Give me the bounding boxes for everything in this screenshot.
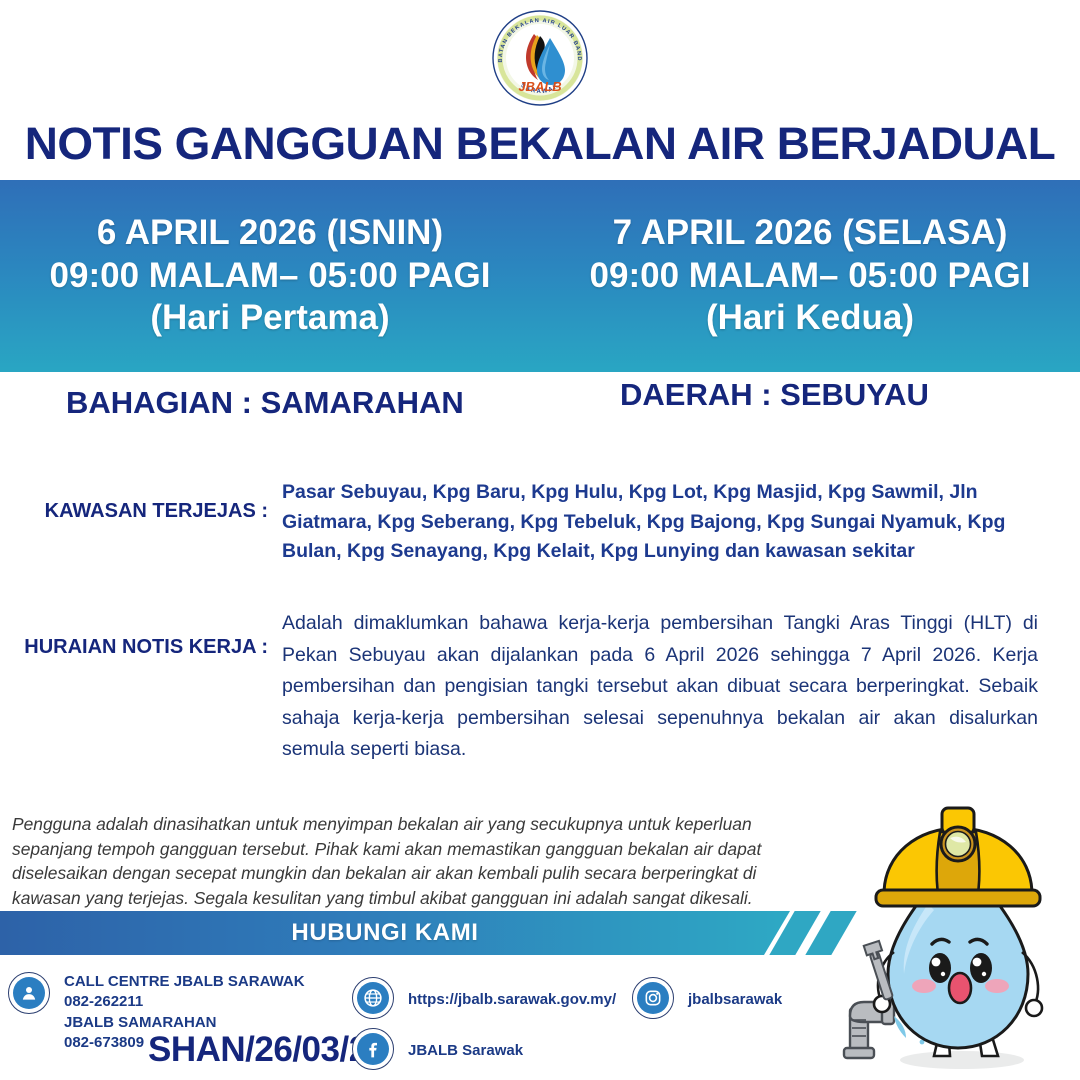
work-description-row: HURAIAN NOTIS KERJA : Adalah dimaklumkan… xyxy=(0,608,1080,766)
svg-text:JBALB: JBALB xyxy=(518,79,561,94)
schedule-band: 6 APRIL 2026 (ISNIN) 09:00 MALAM– 05:00 … xyxy=(0,180,1080,372)
logo-container: JABATAN BEKALAN AIR LUAR BANDAR SARAWAK … xyxy=(0,6,1080,110)
schedule-day-label: (Hari Kedua) xyxy=(706,297,914,340)
affected-areas-value: Pasar Sebuyau, Kpg Baru, Kpg Hulu, Kpg L… xyxy=(268,478,1080,567)
mascot-illustration xyxy=(836,802,1080,1080)
contact-banner-title: HUBUNGI KAMI xyxy=(0,911,770,955)
instagram-handle[interactable]: jbalbsarawak xyxy=(688,990,782,1010)
reference-code: SHAN/26/03/22 xyxy=(148,1030,387,1070)
advisory-text: Pengguna adalah dinasihatkan untuk menyi… xyxy=(12,812,802,911)
schedule-day-1: 6 APRIL 2026 (ISNIN) 09:00 MALAM– 05:00 … xyxy=(0,180,540,372)
facebook-icon[interactable] xyxy=(352,1028,394,1070)
jbalb-logo-icon: JABATAN BEKALAN AIR LUAR BANDAR SARAWAK … xyxy=(490,8,590,108)
work-description-label: HURAIAN NOTIS KERJA : xyxy=(0,608,268,766)
schedule-time: 09:00 MALAM– 05:00 PAGI xyxy=(590,255,1031,298)
website-link[interactable]: https://jbalb.sarawak.gov.my/ xyxy=(408,990,616,1010)
call-centre-phone: 082-262211 xyxy=(64,992,305,1012)
district-label: DAERAH : SEBUYAU xyxy=(620,377,929,413)
person-icon xyxy=(8,972,50,1014)
affected-areas-row: KAWASAN TERJEJAS : Pasar Sebuyau, Kpg Ba… xyxy=(0,478,1080,567)
schedule-time: 09:00 MALAM– 05:00 PAGI xyxy=(50,255,491,298)
division-label: BAHAGIAN : SAMARAHAN xyxy=(66,385,464,421)
instagram-icon[interactable] xyxy=(632,977,674,1019)
facebook-page[interactable]: JBALB Sarawak xyxy=(408,1041,523,1061)
work-description-value: Adalah dimaklumkan bahawa kerja-kerja pe… xyxy=(268,608,1080,766)
page-title: NOTIS GANGGUAN BEKALAN AIR BERJADUAL xyxy=(0,118,1080,170)
call-centre-name: CALL CENTRE JBALB SARAWAK xyxy=(64,972,305,992)
globe-icon[interactable] xyxy=(352,977,394,1019)
schedule-day-2: 7 APRIL 2026 (SELASA) 09:00 MALAM– 05:00… xyxy=(540,180,1080,372)
contact-banner: HUBUNGI KAMI xyxy=(0,911,852,955)
schedule-date: 6 APRIL 2026 (ISNIN) xyxy=(97,212,443,255)
schedule-day-label: (Hari Pertama) xyxy=(150,297,389,340)
affected-areas-label: KAWASAN TERJEJAS : xyxy=(0,478,268,567)
location-row: BAHAGIAN : SAMARAHAN DAERAH : SEBUYAU xyxy=(0,385,1080,427)
notice-page: JABATAN BEKALAN AIR LUAR BANDAR SARAWAK … xyxy=(0,0,1080,1080)
schedule-date: 7 APRIL 2026 (SELASA) xyxy=(613,212,1008,255)
